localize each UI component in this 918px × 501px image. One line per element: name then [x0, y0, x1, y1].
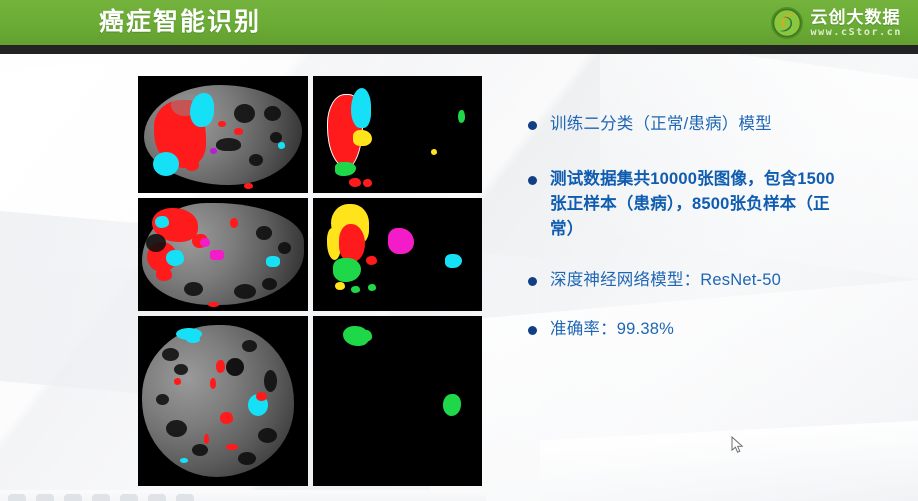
taskbar-icon[interactable]: [148, 494, 166, 501]
brand-name-cn: 云创大数据: [811, 9, 902, 26]
taskbar-icon[interactable]: [36, 494, 54, 501]
segmentation-mask-row3: [313, 316, 482, 486]
bullet-list: 训练二分类（正常/患病）模型 测试数据集共10000张图像，包含1500张正样本…: [528, 112, 838, 352]
cstor-swirl-logo-icon: [770, 6, 804, 40]
presentation-slide: 癌症智能识别 云创大数据 www.cStor.cn: [0, 0, 918, 501]
brand-url: www.cStor.cn: [811, 28, 902, 38]
bullet-text: 训练二分类（正常/患病）模型: [550, 112, 772, 137]
list-item: 深度神经网络模型：ResNet-50: [528, 268, 838, 293]
header-divider-rule: [0, 45, 918, 54]
pathology-image-grid: [138, 76, 482, 491]
list-item: 训练二分类（正常/患病）模型: [528, 112, 838, 137]
slide-header-bar: 癌症智能识别 云创大数据 www.cStor.cn: [0, 0, 918, 45]
bullet-dot-icon: [528, 277, 537, 286]
bullet-text: 深度神经网络模型：ResNet-50: [550, 268, 781, 293]
scan-overlay-row3: [138, 316, 308, 486]
taskbar-sliver[interactable]: [0, 490, 486, 501]
image-row: [138, 198, 482, 311]
mouse-pointer-icon: [731, 436, 744, 459]
image-row: [138, 76, 482, 193]
bullet-dot-icon: [528, 326, 537, 335]
segmentation-mask-row2: [313, 198, 482, 311]
brand-logo: 云创大数据 www.cStor.cn: [770, 5, 902, 41]
brand-logo-text: 云创大数据 www.cStor.cn: [811, 9, 902, 38]
taskbar-icon[interactable]: [176, 494, 194, 501]
background-facet: [540, 420, 918, 501]
scan-overlay-row2: [138, 198, 308, 311]
bullet-dot-icon: [528, 176, 537, 185]
list-item: 准确率：99.38%: [528, 317, 838, 342]
bullet-text: 测试数据集共10000张图像，包含1500张正样本（患病），8500张负样本（正…: [550, 167, 838, 242]
list-item: 测试数据集共10000张图像，包含1500张正样本（患病），8500张负样本（正…: [528, 167, 838, 242]
page-title: 癌症智能识别: [99, 7, 261, 38]
taskbar-icon[interactable]: [92, 494, 110, 501]
image-row: [138, 316, 482, 486]
segmentation-mask-row1: [313, 76, 482, 193]
taskbar-icon[interactable]: [120, 494, 138, 501]
bullet-text: 准确率：99.38%: [550, 317, 674, 342]
scan-overlay-row1: [138, 76, 308, 193]
taskbar-icon[interactable]: [8, 494, 26, 501]
taskbar-icon[interactable]: [64, 494, 82, 501]
bullet-dot-icon: [528, 121, 537, 130]
